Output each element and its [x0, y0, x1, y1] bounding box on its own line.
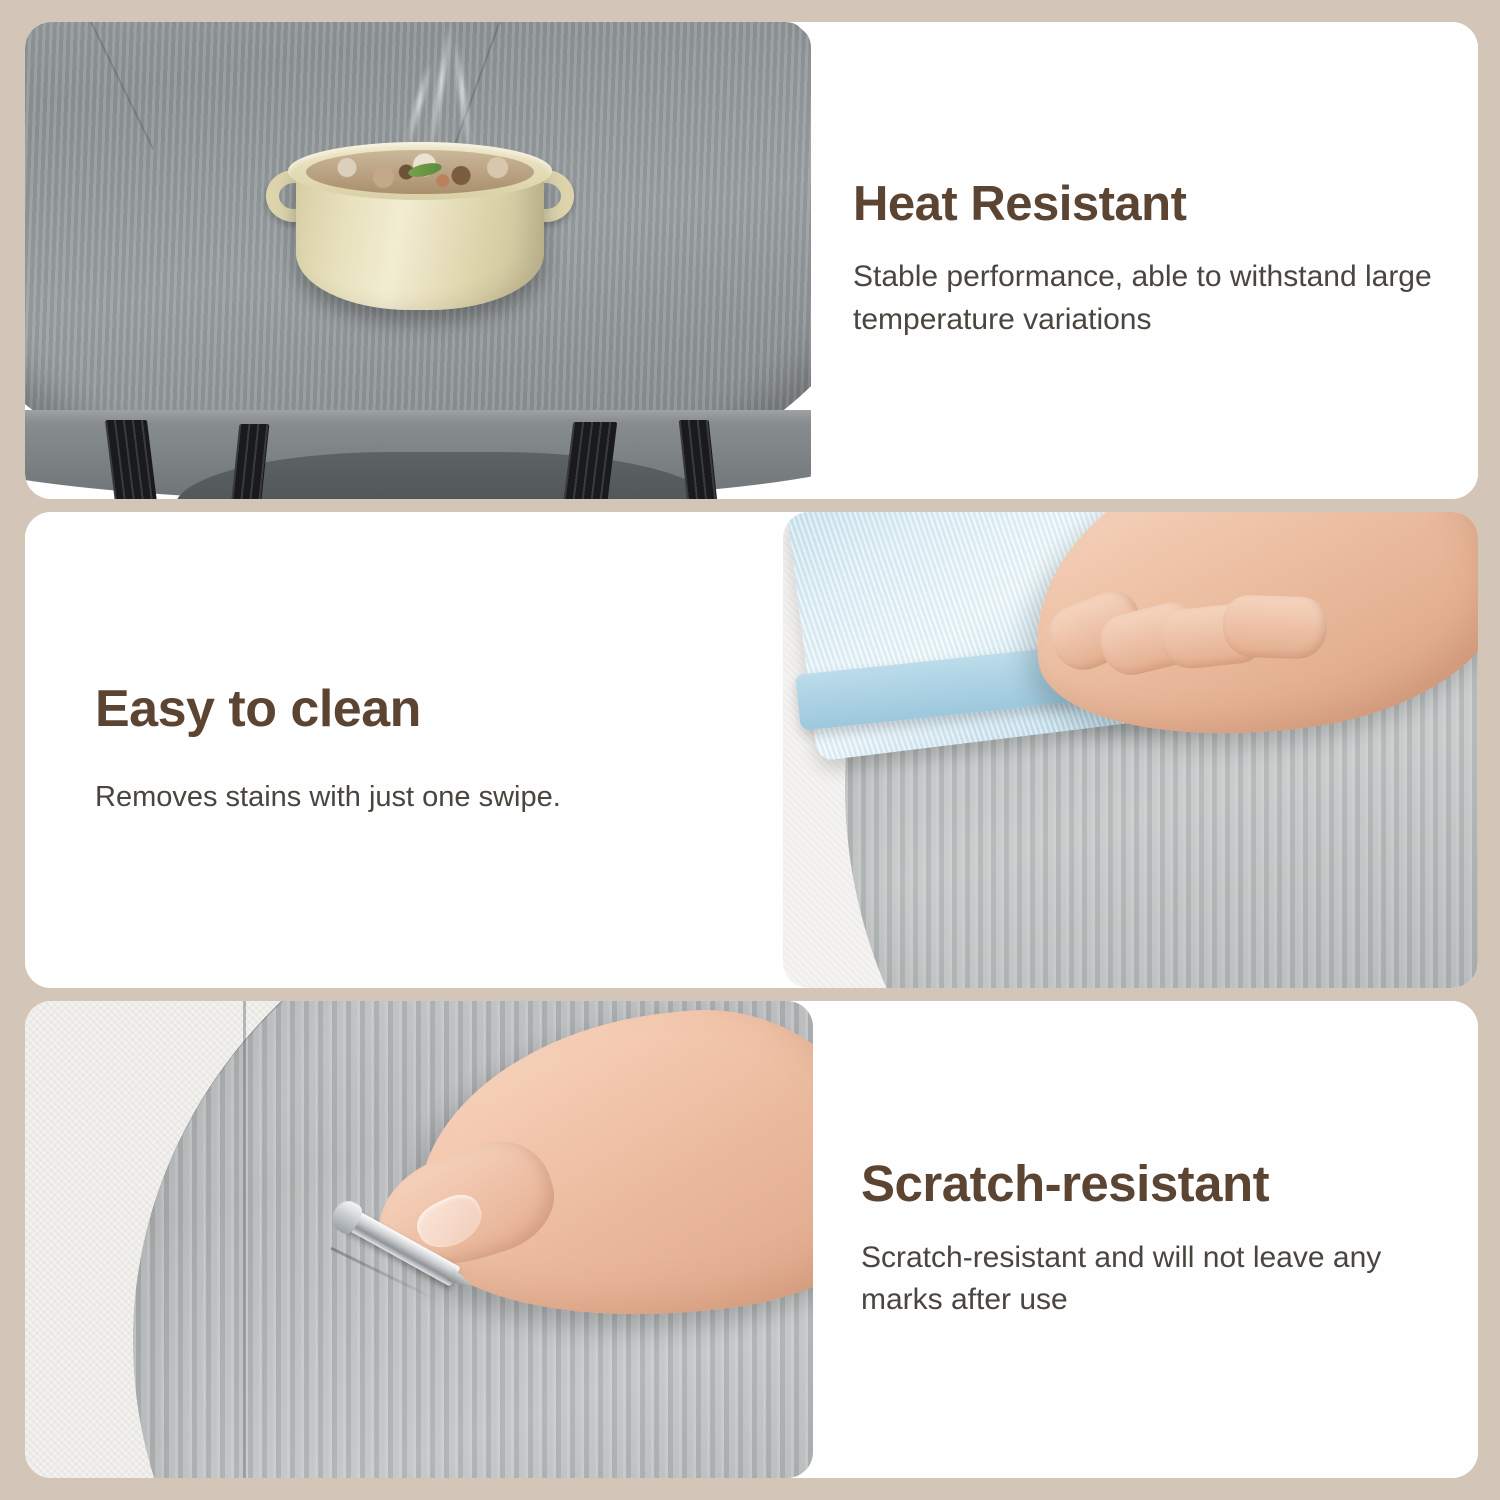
- scene-wiping-cloth: [783, 512, 1478, 989]
- feature-card-easy-to-clean: Easy to clean Removes stains with just o…: [25, 512, 1478, 989]
- feature-description: Scratch-resistant and will not leave any…: [861, 1237, 1442, 1322]
- scene-pot-on-table: [25, 22, 811, 499]
- feature-description: Removes stains with just one swipe.: [95, 777, 735, 818]
- plank-seam: [243, 1001, 246, 1478]
- feature-card-heat-resistant: Heat Resistant Stable performance, able …: [25, 22, 1478, 499]
- feature-text-heat-resistant: Heat Resistant Stable performance, able …: [811, 22, 1478, 499]
- feature-heading: Easy to clean: [95, 682, 743, 737]
- scene-key-scratch-test: [25, 1001, 813, 1478]
- feature-heading: Scratch-resistant: [861, 1157, 1442, 1211]
- feature-description: Stable performance, able to withstand la…: [853, 256, 1438, 341]
- ceramic-pot: [270, 108, 570, 313]
- feature-card-scratch-resistant: Scratch-resistant Scratch-resistant and …: [25, 1001, 1478, 1478]
- feature-image-easy-to-clean: [783, 512, 1478, 989]
- feature-image-scratch-resistant: [25, 1001, 813, 1478]
- infographic-page: Heat Resistant Stable performance, able …: [0, 0, 1500, 1500]
- plank-seam: [38, 22, 154, 149]
- feature-text-easy-to-clean: Easy to clean Removes stains with just o…: [25, 512, 783, 989]
- feature-heading: Heat Resistant: [853, 179, 1438, 230]
- feature-image-heat-resistant: [25, 22, 811, 499]
- feature-text-scratch-resistant: Scratch-resistant Scratch-resistant and …: [813, 1001, 1478, 1478]
- finger: [1222, 594, 1328, 660]
